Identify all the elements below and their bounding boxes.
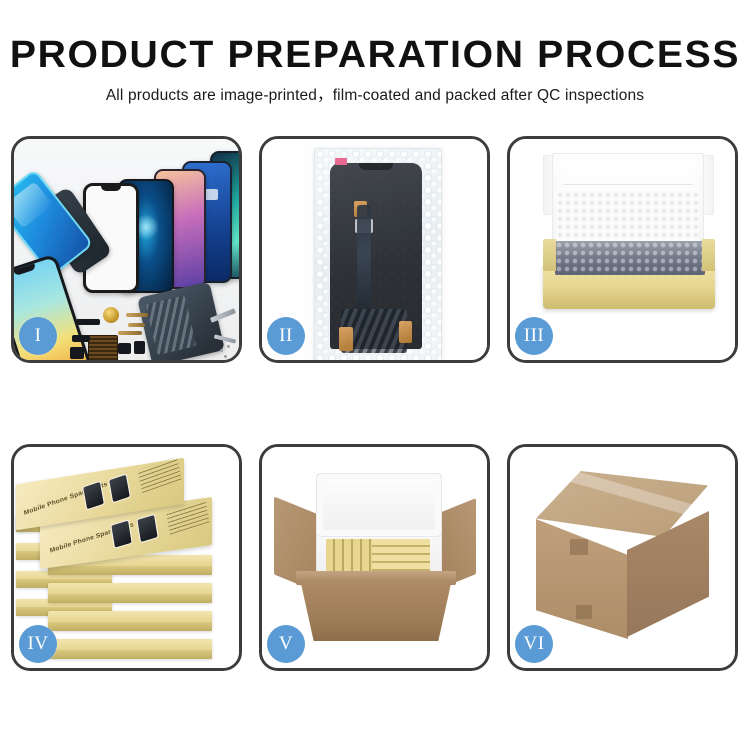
carton-body xyxy=(300,579,452,641)
carton-marking-lower xyxy=(576,605,592,619)
tray-lip-left xyxy=(543,239,556,271)
step-panel-6[interactable]: VI xyxy=(507,444,738,671)
page-header: PRODUCT PREPARATION PROCESS All products… xyxy=(0,0,750,105)
part-power-flex xyxy=(128,323,145,327)
spec-text-lines xyxy=(138,456,182,493)
part-vibration-motor xyxy=(103,307,119,323)
step-panel-1[interactable]: I xyxy=(11,136,242,363)
process-steps-grid: I II xyxy=(11,136,739,671)
page-subtitle: All products are image-printed，film-coat… xyxy=(0,83,750,105)
carton-front-face xyxy=(536,519,628,639)
adhesive-tape-right xyxy=(399,321,412,343)
pink-qc-label xyxy=(335,158,347,165)
step-panel-5[interactable]: V xyxy=(259,444,490,671)
step-panel-3[interactable]: III xyxy=(507,136,738,363)
part-volume-flex xyxy=(126,313,148,317)
part-earpiece-mesh xyxy=(76,319,100,325)
part-screw xyxy=(220,349,223,352)
step-badge-3: III xyxy=(515,317,553,355)
part-camera-module xyxy=(118,343,131,354)
step-badge-6: VI xyxy=(515,625,553,663)
step-badge-5: V xyxy=(267,625,305,663)
step-badge-2: II xyxy=(267,317,305,355)
product-thumbnail xyxy=(136,514,159,544)
adhesive-tape-left xyxy=(339,327,353,351)
bubble-wrapped-contents xyxy=(555,241,705,275)
product-thumbnail xyxy=(82,480,105,510)
step-badge-4: IV xyxy=(19,625,57,663)
part-speaker-module xyxy=(70,347,84,359)
retail-box xyxy=(48,611,212,631)
carton-marking-upper xyxy=(570,539,588,555)
bubble-wrap-bag xyxy=(314,148,442,360)
kraft-box-tray xyxy=(543,265,715,309)
page-title: PRODUCT PREPARATION PROCESS xyxy=(0,34,750,76)
part-antenna-strip xyxy=(72,335,90,342)
step-badge-1: I xyxy=(19,317,57,355)
product-thumbnail xyxy=(110,519,133,549)
retail-box xyxy=(48,639,212,659)
part-charging-port-flex xyxy=(118,331,142,335)
foam-box-lid xyxy=(316,473,442,537)
part-connector-board xyxy=(88,335,118,360)
part-screw xyxy=(227,345,230,348)
step-panel-2[interactable]: II xyxy=(259,136,490,363)
retail-box xyxy=(48,583,212,603)
step-panel-4[interactable]: Mobile Phone Spare Parts Mobile Phone Sp… xyxy=(11,444,242,671)
product-thumbnail xyxy=(108,473,131,503)
part-screw xyxy=(224,355,227,358)
tray-lip-right xyxy=(702,239,715,271)
part-sim-tray-holder xyxy=(134,341,145,354)
